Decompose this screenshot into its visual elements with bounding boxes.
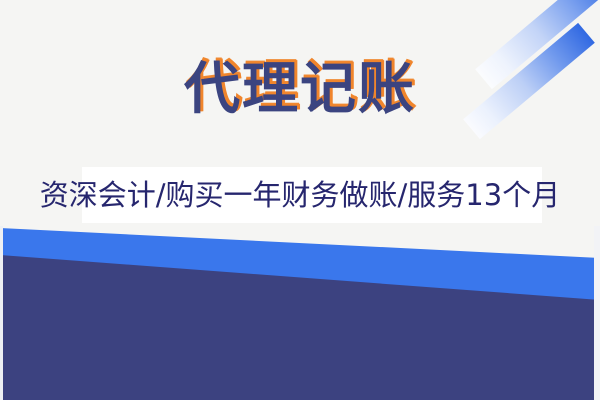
banner-subtitle: 资深会计/购买一年财务做账/服务13个月 bbox=[0, 168, 600, 222]
left-edge-strip bbox=[0, 226, 3, 400]
promo-banner: 代理记账 资深会计/购买一年财务做账/服务13个月 bbox=[0, 0, 600, 400]
banner-title: 代理记账 bbox=[184, 56, 416, 124]
right-edge-strip bbox=[594, 226, 600, 400]
title-container: 代理记账 bbox=[0, 56, 600, 124]
